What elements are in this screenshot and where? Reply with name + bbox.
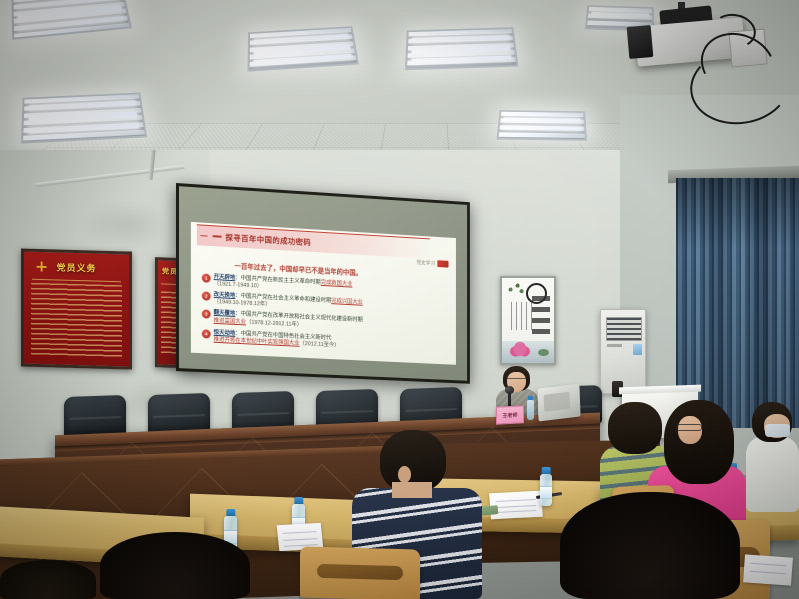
bottle-cap (542, 467, 551, 474)
party-board-duties: 党员义务 (21, 248, 132, 369)
ceiling-light (21, 92, 147, 143)
slide-bullet-term: 开天辟地 (214, 274, 236, 281)
slide-bullet-term: 惊天动地 (214, 330, 236, 337)
attendee-hair (664, 400, 734, 484)
slide-bullet-highlight: 推进富国大业 (214, 318, 246, 326)
slide-bullet-number: 4 (202, 329, 211, 338)
slide-bullet-term: 翻天覆地 (214, 310, 236, 317)
attendee-head (752, 402, 792, 442)
slide-bullet-number: 3 (202, 310, 211, 319)
slide-bullet-date: （2012.11至今） (300, 341, 340, 349)
ceiling-light (405, 27, 519, 70)
slide-watermark: 党史学习 (416, 259, 448, 268)
lotus-flower-icon (509, 337, 531, 357)
slide-bullet-text: 翻天覆地：中国共产党在改革开放和社会主义现代化建设新时期推进富国大业（1978.… (214, 310, 363, 332)
ceiling-light (247, 26, 359, 71)
attendee-head (100, 532, 250, 599)
attendee-foreground-center (560, 492, 740, 599)
lectern-top-surface (619, 385, 701, 395)
plum-branch-icon (504, 280, 526, 296)
ceiling-light (11, 0, 131, 40)
water-bottle (527, 400, 534, 420)
projector-lens (627, 25, 654, 59)
slide-bullet-highlight: 完成兴国大业 (331, 298, 363, 306)
slide-bullet-date: （1949.10-1978.12年） (214, 299, 271, 308)
water-bottle (540, 474, 552, 506)
party-history-logo-icon (437, 261, 448, 268)
slide-watermark-text: 党史学习 (416, 259, 435, 267)
ac-vent-grille (606, 317, 642, 341)
attendee-head (0, 560, 96, 599)
slide-bullet-text: 惊天动地：中国共产党在中国特色社会主义新时代推进并将在本世纪中叶实现强国大业（2… (214, 330, 340, 351)
conference-room-photo: 党员义务 党员权利 一 探寻百年中国的成功密码 党史学习 一百年过去了，中国却早… (0, 0, 799, 599)
party-board-title: 党员义务 (24, 259, 129, 275)
slide-bullet-date: （1921.7-1949.10） (214, 281, 263, 290)
lotus-integrity-poster (500, 276, 556, 365)
notebook-papers (743, 554, 793, 585)
slide-title-prefix: 一 (200, 230, 207, 241)
slide-bullet-term: 改天换地 (214, 292, 236, 299)
ac-energy-label (633, 344, 642, 355)
wooden-chair (300, 546, 420, 599)
presenter-name-placard: 王老师 (496, 405, 524, 424)
attendee-foreground-left (100, 532, 250, 599)
presenter-laptop[interactable] (537, 383, 580, 421)
executive-chair (64, 395, 126, 437)
ceiling-light (496, 110, 587, 141)
bottle-label (540, 486, 552, 499)
attendee-ear (398, 466, 411, 483)
slide-title-bar: 一 探寻百年中国的成功密码 (196, 224, 430, 258)
slide-bullet-number: 2 (202, 291, 211, 300)
attendee-head (560, 492, 740, 599)
bottle-cap (294, 497, 303, 504)
air-conditioner (600, 309, 646, 394)
face-mask (765, 424, 790, 437)
slide-bullet-date: （1978.12-2012.11年） (246, 319, 302, 328)
slide-bullet-highlight: 完成救国大业 (321, 280, 353, 288)
bottle-cap (226, 509, 235, 516)
attendee-neck (392, 482, 432, 498)
slide-lead-sentence: 一百年过去了，中国却早已不是当年的中国。 (234, 260, 361, 277)
attendee-glasses (676, 424, 702, 431)
poster-verse-text (511, 302, 535, 330)
attendee-torso (746, 436, 799, 512)
presentation-slide: 一 探寻百年中国的成功密码 党史学习 一百年过去了，中国却早已不是当年的中国。 … (191, 221, 456, 364)
attendee-masked-white (746, 402, 799, 512)
projection-screen: 一 探寻百年中国的成功密码 党史学习 一百年过去了，中国却早已不是当年的中国。 … (176, 183, 470, 384)
attendee-foreground-edge (0, 560, 96, 599)
wall-smudge (80, 200, 170, 250)
presenter-name-text: 王老师 (502, 411, 517, 419)
party-board-text-lines (31, 283, 121, 359)
slide-title: 探寻百年中国的成功密码 (225, 231, 311, 247)
lotus-pad-icon (538, 349, 549, 356)
slide-title-dash (213, 235, 222, 238)
microphone-head (505, 386, 514, 394)
presenter-glasses (507, 378, 526, 384)
screen-surface: 一 探寻百年中国的成功密码 党史学习 一百年过去了，中国却早已不是当年的中国。 … (179, 186, 467, 381)
slide-bullet-number: 1 (202, 273, 211, 282)
ac-brand-logo (607, 344, 622, 347)
